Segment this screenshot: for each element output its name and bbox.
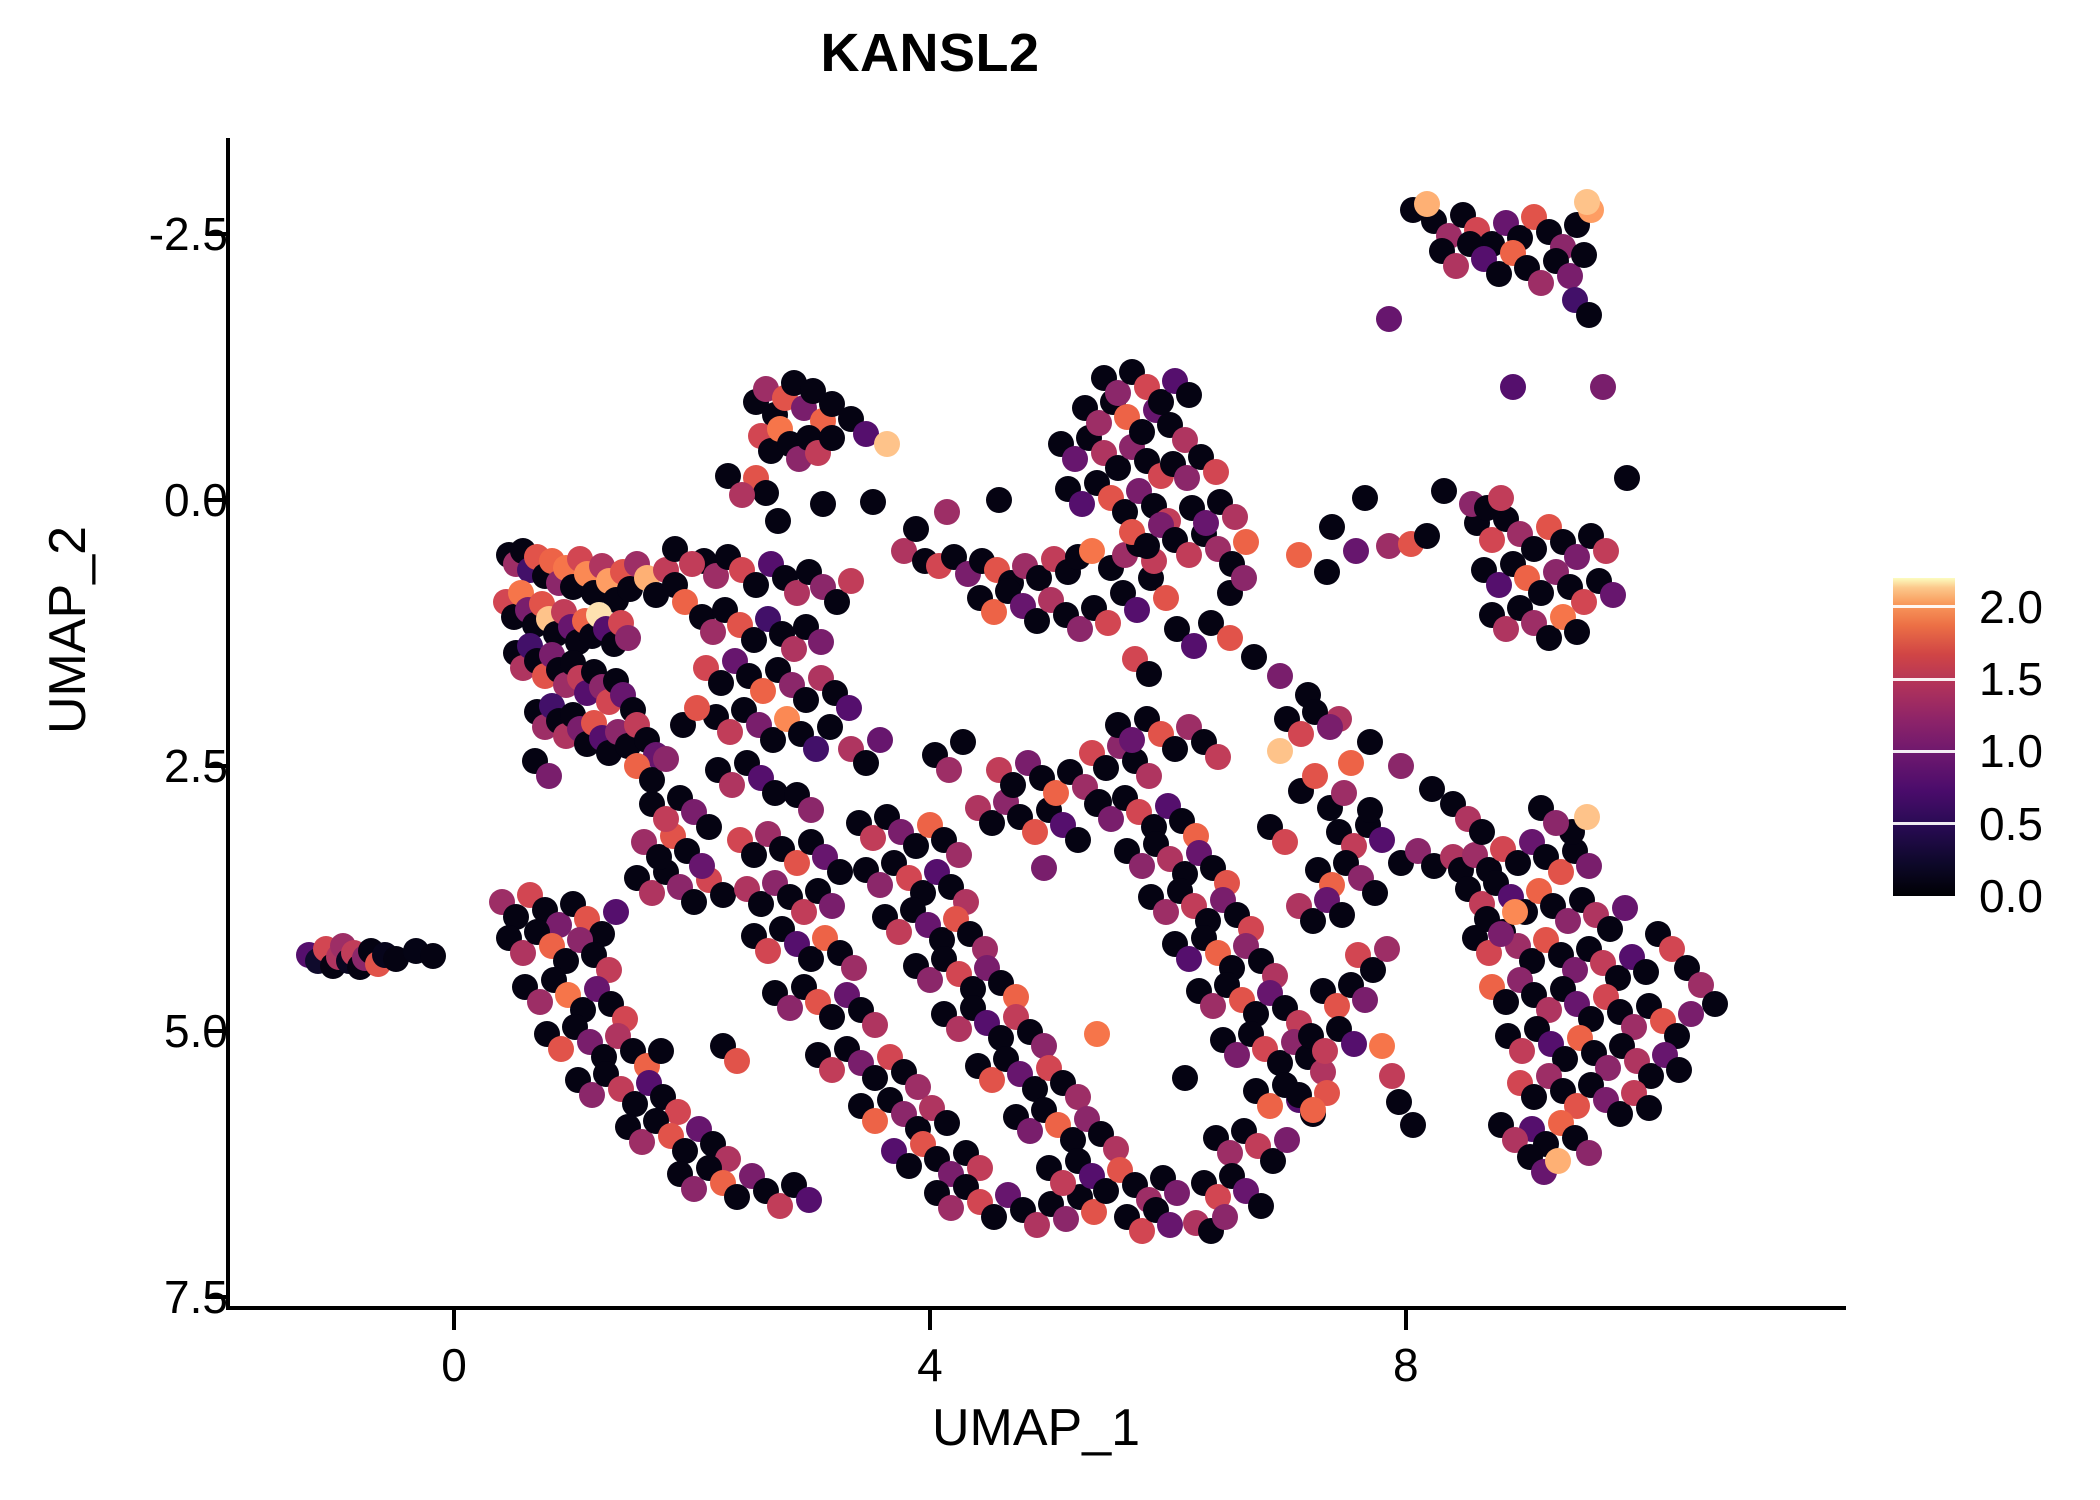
scatter-point [1065, 827, 1091, 853]
scatter-point [1414, 191, 1440, 217]
scatter-point [420, 943, 446, 969]
scatter-point [1633, 959, 1659, 985]
scatter-point [950, 729, 976, 755]
colorbar-tick-label: 1.5 [1979, 652, 2043, 706]
scatter-point [1545, 1148, 1571, 1174]
chart-root: KANSL2 7.55.02.50.0-2.5 048 UMAP_2 UMAP_… [0, 0, 2100, 1500]
scatter-point [1084, 1021, 1110, 1047]
y-axis-line [226, 138, 230, 1310]
scatter-point [819, 425, 845, 451]
scatter-point [1217, 625, 1243, 651]
x-tick-label: 4 [917, 1338, 943, 1392]
scatter-point [1312, 1038, 1338, 1064]
colorbar-tick-mark [1893, 605, 1955, 608]
scatter-point [1443, 253, 1469, 279]
scatter-point [1267, 738, 1293, 764]
scatter-point [903, 516, 929, 542]
scatter-point [639, 767, 665, 793]
x-axis-label: UMAP_1 [226, 1398, 1846, 1458]
scatter-point [1666, 1057, 1692, 1083]
plot-panel [228, 138, 1846, 1308]
scatter-point [753, 480, 779, 506]
scatter-point [710, 882, 736, 908]
scatter-point [1574, 804, 1600, 830]
scatter-point [817, 714, 843, 740]
scatter-point [536, 763, 562, 789]
scatter-point [1136, 661, 1162, 687]
y-tick-label: 5.0 [164, 1004, 228, 1058]
scatter-point [1338, 750, 1364, 776]
scatter-point [936, 757, 962, 783]
scatter-point [946, 842, 972, 868]
scatter-point [819, 893, 845, 919]
scatter-point [934, 1110, 960, 1136]
scatter-point [1248, 1193, 1274, 1219]
scatter-point [1181, 633, 1207, 659]
scatter-point [1593, 538, 1619, 564]
scatter-point [1576, 853, 1602, 879]
scatter-point [1388, 753, 1414, 779]
x-tick-mark [1404, 1309, 1408, 1330]
scatter-point [1331, 780, 1357, 806]
colorbar-gradient [1893, 578, 1955, 896]
scatter-point [1172, 1065, 1198, 1091]
scatter-point [1636, 1095, 1662, 1121]
y-axis-label: UMAP_2 [38, 350, 98, 910]
scatter-point [1493, 989, 1519, 1015]
scatter-point [1222, 504, 1248, 530]
y-tick-label: 0.0 [164, 473, 228, 527]
scatter-point [1022, 819, 1048, 845]
scatter-point [724, 1184, 750, 1210]
scatter-point [798, 797, 824, 823]
scatter-point [1267, 663, 1293, 689]
scatter-point [867, 872, 893, 898]
scatter-point [836, 695, 862, 721]
scatter-point [1379, 1063, 1405, 1089]
scatter-point [1352, 485, 1378, 511]
scatter-point [1362, 880, 1388, 906]
scatter-point [1590, 374, 1616, 400]
scatter-point [1093, 755, 1119, 781]
scatter-point [1203, 459, 1229, 485]
scatter-point [827, 859, 853, 885]
scatter-point [1500, 374, 1526, 400]
scatter-point [1288, 721, 1314, 747]
scatter-point [696, 814, 722, 840]
scatter-point [1576, 302, 1602, 328]
scatter-point [684, 695, 710, 721]
scatter-point [986, 487, 1012, 513]
scatter-point [1571, 242, 1597, 268]
scatter-point [1053, 1206, 1079, 1232]
scatter-point [1300, 1097, 1326, 1123]
scatter-point [1400, 1112, 1426, 1138]
colorbar-tick-label: 0.5 [1979, 797, 2043, 851]
scatter-point [1217, 1140, 1243, 1166]
colorbar-tick-label: 1.0 [1979, 724, 2043, 778]
scatter-point [1317, 714, 1343, 740]
scatter-point [1134, 533, 1160, 559]
scatter-point [653, 746, 679, 772]
scatter-point [708, 670, 734, 696]
colorbar-tick-mark [1893, 822, 1955, 825]
scatter-point [1521, 1084, 1547, 1110]
scatter-point [1319, 514, 1345, 540]
scatter-point [1600, 582, 1626, 608]
scatter-point [1031, 855, 1057, 881]
scatter-point [689, 853, 715, 879]
scatter-point [1702, 991, 1728, 1017]
scatter-point [681, 889, 707, 915]
scatter-point [1528, 270, 1554, 296]
scatter-point [1574, 189, 1600, 215]
scatter-point [853, 750, 879, 776]
scatter-point [672, 1138, 698, 1164]
scatter-point [1386, 1089, 1412, 1115]
scatter-point [1233, 529, 1259, 555]
scatter-points-layer [228, 138, 1846, 1308]
scatter-point [1341, 1031, 1367, 1057]
scatter-point [1509, 1038, 1535, 1064]
scatter-point [1124, 597, 1150, 623]
y-tick-label: 7.5 [164, 1270, 228, 1324]
scatter-point [934, 499, 960, 525]
scatter-point [1241, 644, 1267, 670]
scatter-point [1286, 542, 1312, 568]
x-tick-mark [928, 1309, 932, 1330]
scatter-point [1343, 538, 1369, 564]
scatter-point [765, 508, 791, 534]
scatter-point [1369, 1033, 1395, 1059]
scatter-point [1376, 306, 1402, 332]
scatter-point [1164, 1180, 1190, 1206]
scatter-point [729, 482, 755, 508]
scatter-point [1357, 729, 1383, 755]
scatter-point [808, 629, 834, 655]
scatter-point [1212, 1204, 1238, 1230]
x-tick-label: 8 [1393, 1338, 1419, 1392]
scatter-point [796, 1187, 822, 1213]
scatter-point [1176, 382, 1202, 408]
y-tick-label: -2.5 [149, 207, 228, 261]
scatter-point [1231, 565, 1257, 591]
colorbar-tick-label: 0.0 [1979, 869, 2043, 923]
scatter-point [1000, 772, 1026, 798]
scatter-point [1136, 763, 1162, 789]
scatter-point [1488, 485, 1514, 511]
scatter-point [1369, 827, 1395, 853]
scatter-point [724, 1048, 750, 1074]
scatter-point [1129, 853, 1155, 879]
scatter-point [1272, 829, 1298, 855]
scatter-point [874, 431, 900, 457]
scatter-point [1576, 1140, 1602, 1166]
scatter-point [1678, 1001, 1704, 1027]
scatter-point [1521, 536, 1547, 562]
scatter-point [1543, 810, 1569, 836]
scatter-point [1314, 559, 1340, 585]
scatter-point [1414, 523, 1440, 549]
scatter-point [867, 727, 893, 753]
scatter-point [1274, 1127, 1300, 1153]
x-tick-label: 0 [441, 1338, 467, 1392]
scatter-point [1431, 478, 1457, 504]
colorbar-tick-mark [1893, 750, 1955, 753]
colorbar-legend: 0.00.51.01.52.0 [1893, 578, 2083, 908]
scatter-point [679, 551, 705, 577]
scatter-point [1469, 819, 1495, 845]
scatter-point [1505, 850, 1531, 876]
scatter-point [1157, 1212, 1183, 1238]
colorbar-tick-label: 2.0 [1979, 580, 2043, 634]
scatter-point [527, 989, 553, 1015]
x-axis-line [226, 1306, 1846, 1310]
scatter-point [648, 1038, 674, 1064]
scatter-point [841, 955, 867, 981]
y-tick-label: 2.5 [164, 739, 228, 793]
scatter-point [755, 938, 781, 964]
scatter-point [719, 772, 745, 798]
scatter-point [1564, 619, 1590, 645]
scatter-point [1488, 921, 1514, 947]
scatter-point [1614, 465, 1640, 491]
scatter-point [1352, 987, 1378, 1013]
scatter-point [793, 687, 819, 713]
scatter-point [615, 625, 641, 651]
page-title: KANSL2 [0, 22, 1860, 84]
scatter-point [1205, 744, 1231, 770]
scatter-point [1129, 419, 1155, 445]
scatter-point [803, 736, 829, 762]
x-tick-mark [452, 1309, 456, 1330]
colorbar-tick-mark [1893, 678, 1955, 681]
scatter-point [1302, 763, 1328, 789]
scatter-point [1374, 936, 1400, 962]
scatter-point [1612, 895, 1638, 921]
scatter-point [819, 1004, 845, 1030]
scatter-point [1050, 1170, 1076, 1196]
scatter-point [1329, 902, 1355, 928]
scatter-point [903, 833, 929, 859]
scatter-point [810, 491, 836, 517]
scatter-point [838, 568, 864, 594]
scatter-point [1153, 585, 1179, 611]
scatter-point [896, 1153, 922, 1179]
scatter-point [862, 1012, 888, 1038]
scatter-point [1095, 610, 1121, 636]
scatter-point [860, 489, 886, 515]
scatter-point [603, 899, 629, 925]
